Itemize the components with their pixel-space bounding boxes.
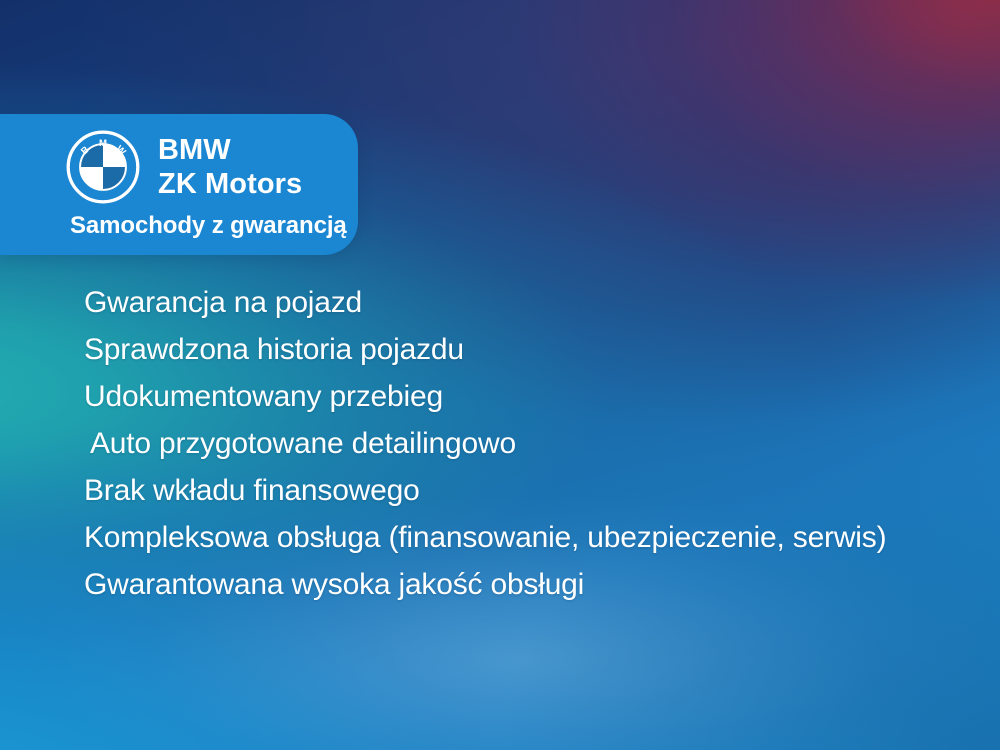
- bmw-roundel-icon: B M W: [66, 130, 140, 204]
- feature-item: Udokumentowany przebieg: [0, 373, 1000, 420]
- feature-list: Gwarancja na pojazd Sprawdzona historia …: [0, 279, 1000, 608]
- feature-item: Brak wkładu finansowego: [0, 467, 1000, 514]
- feature-item: Gwarancja na pojazd: [0, 279, 1000, 326]
- brand-tagline: Samochody z gwarancją: [0, 204, 358, 240]
- feature-item: Sprawdzona historia pojazdu: [0, 326, 1000, 373]
- svg-text:M: M: [99, 138, 107, 149]
- brand-wordmark: BMW ZK Motors: [158, 133, 302, 201]
- brand-name-line2: ZK Motors: [158, 167, 302, 201]
- promo-banner: B M W BMW ZK Motors Samochody z gwarancj…: [0, 0, 1000, 750]
- brand-badge: B M W BMW ZK Motors Samochody z gwarancj…: [0, 114, 358, 255]
- brand-name-line1: BMW: [158, 134, 231, 166]
- feature-item: Kompleksowa obsługa (finansowanie, ubezp…: [0, 514, 1000, 561]
- feature-item: Auto przygotowane detailingowo: [0, 420, 1000, 467]
- brand-badge-header: B M W BMW ZK Motors: [0, 114, 358, 204]
- feature-item: Gwarantowana wysoka jakość obsługi: [0, 561, 1000, 608]
